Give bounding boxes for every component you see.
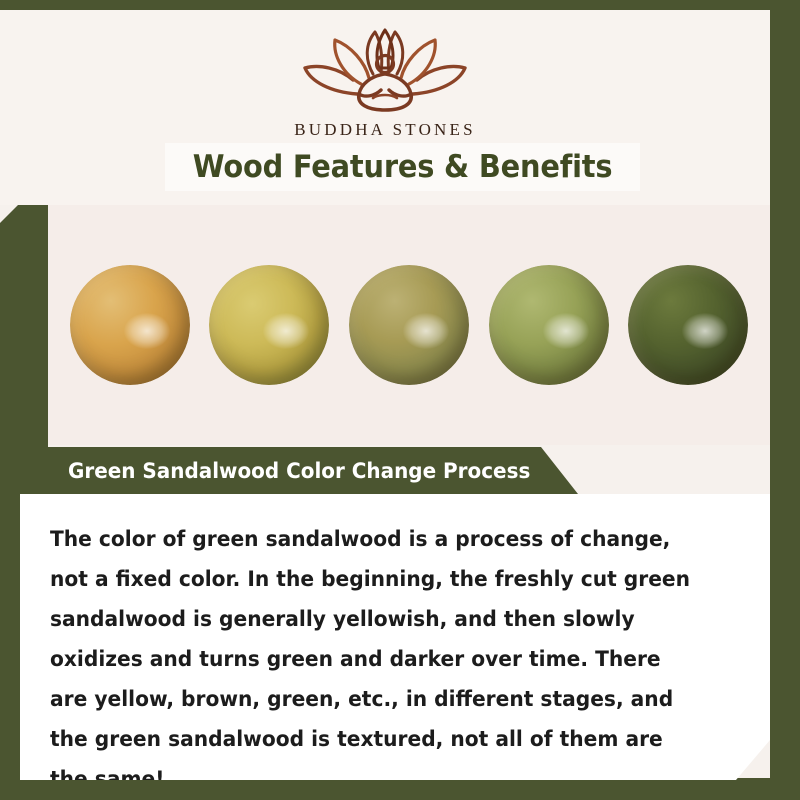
section-heading: Green Sandalwood Color Change Process [68, 459, 530, 483]
bead-stage-1-yellowish [70, 265, 190, 385]
bead-row [48, 205, 770, 445]
bead-showcase-panel [48, 205, 770, 445]
body-text-card: The color of green sandalwood is a proce… [20, 494, 770, 780]
section-banner: Green Sandalwood Color Change Process [48, 447, 578, 494]
frame-band-top [0, 0, 800, 10]
frame-band-bottom [0, 778, 800, 800]
page-title: Wood Features & Benefits [193, 149, 613, 185]
brand-name: BUDDHA STONES [294, 120, 476, 140]
bead-stage-3-olive-brown [349, 265, 469, 385]
lotus-meditation-figure-icon [295, 24, 475, 116]
body-paragraph: The color of green sandalwood is a proce… [50, 520, 699, 800]
title-banner: Wood Features & Benefits [165, 143, 640, 191]
bead-stage-5-dark-green [628, 265, 748, 385]
brand-logo: BUDDHA STONES [0, 24, 770, 140]
bead-stage-4-green [489, 265, 609, 385]
infographic-page: BUDDHA STONES Wood Features & Benefits [0, 0, 800, 800]
bead-stage-2-yellow-green [209, 265, 329, 385]
frame-band-right [770, 0, 800, 800]
